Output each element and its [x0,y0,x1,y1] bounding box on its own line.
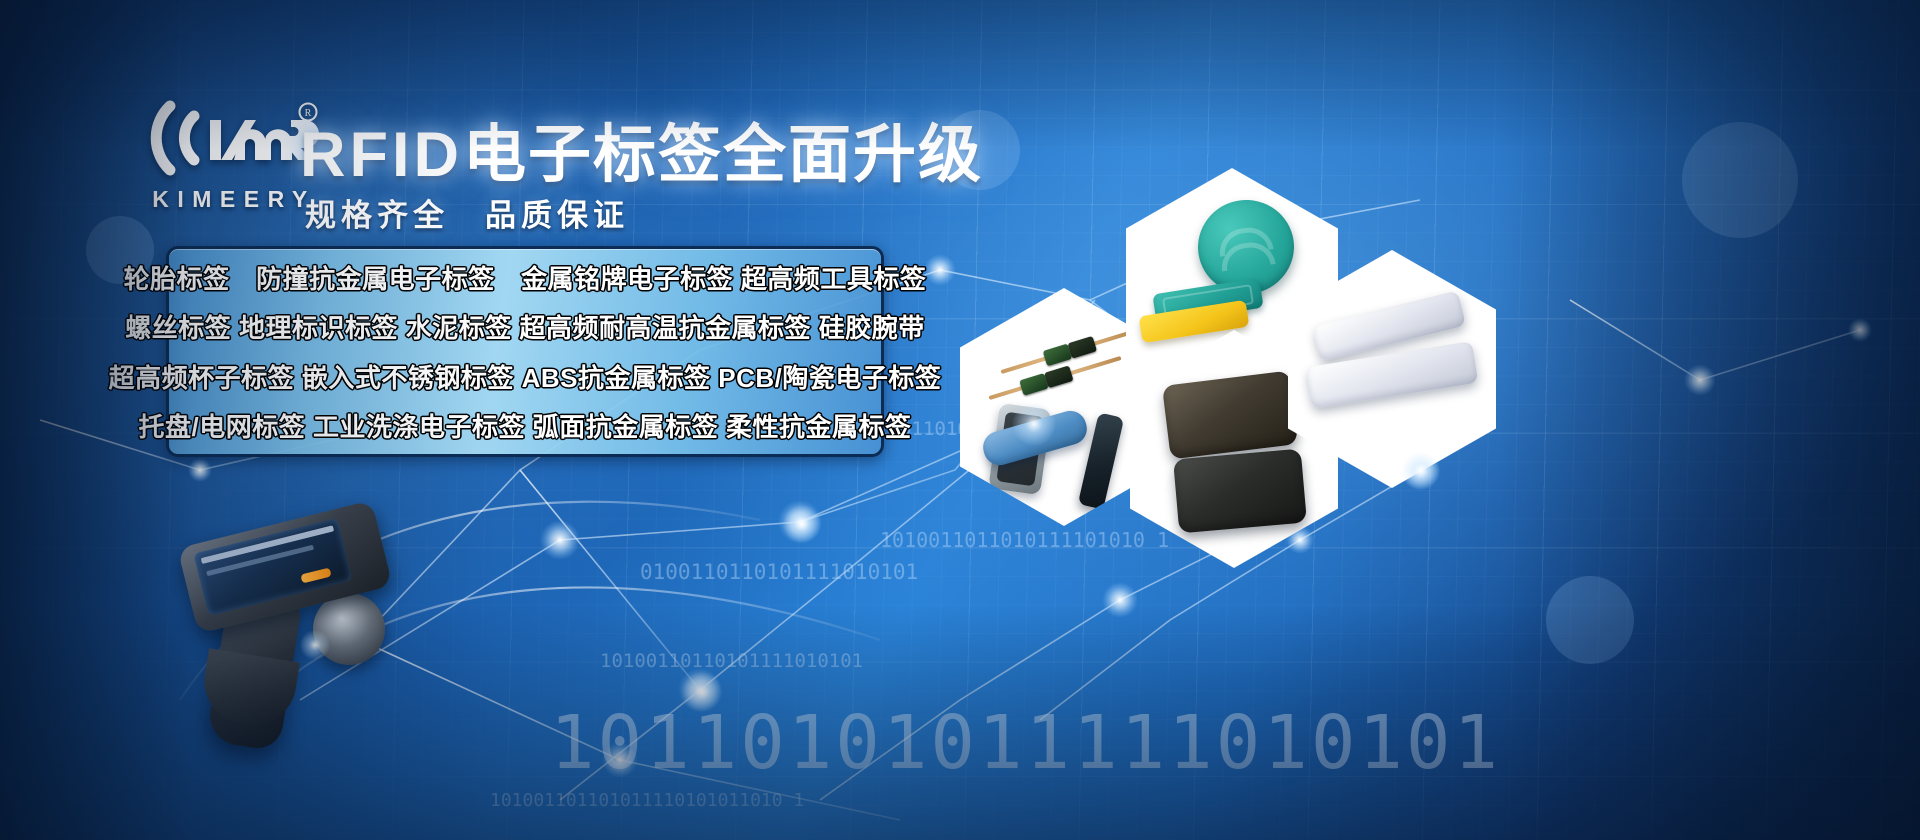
brand-logo: R KIMEERY [140,96,320,213]
black-anti-metal-plate [1173,449,1307,534]
brand-wordmark: KIMEERY [140,186,320,213]
rfid-promo-banner: 10100110110101111010101 1010011011010111… [0,0,1920,840]
product-list-row: 螺丝标签 地理标识标签 水泥标签 超高频耐高温抗金属标签 硅胶腕带 [169,302,881,351]
page-title-text: 电子标签全面升级 [463,120,983,190]
rfid-handheld-reader [165,505,405,840]
product-list-row: 超高频杯子标签 嵌入式不锈钢标签 ABS抗金属标签 PCB/陶瓷电子标签 [169,352,881,401]
product-list-row: 托盘/电网标签 工业洗涤电子标签 弧面抗金属标签 柔性抗金属标签 [169,401,881,450]
dark-anti-metal-plate [1162,370,1298,459]
glass-tube-chip-green [1019,373,1049,396]
page-title: RFID电子标签全面升级 [300,104,983,195]
reader-lens [313,593,385,665]
kimeery-signal-logo-icon: R [140,96,320,180]
product-list-panel: 轮胎标签 防撞抗金属电子标签 金属铭牌电子标签 超高频工具标签 螺丝标签 地理标… [166,246,884,457]
glass-tube-chip [1044,365,1074,388]
page-subtitle: 规格齐全 品质保证 [305,190,629,235]
glass-tube-chip [1068,336,1098,359]
glass-tube-chip-green [1043,343,1073,366]
product-list-row: 轮胎标签 防撞抗金属电子标签 金属铭牌电子标签 超高频工具标签 [169,253,881,302]
page-title-prefix: RFID [300,120,463,190]
